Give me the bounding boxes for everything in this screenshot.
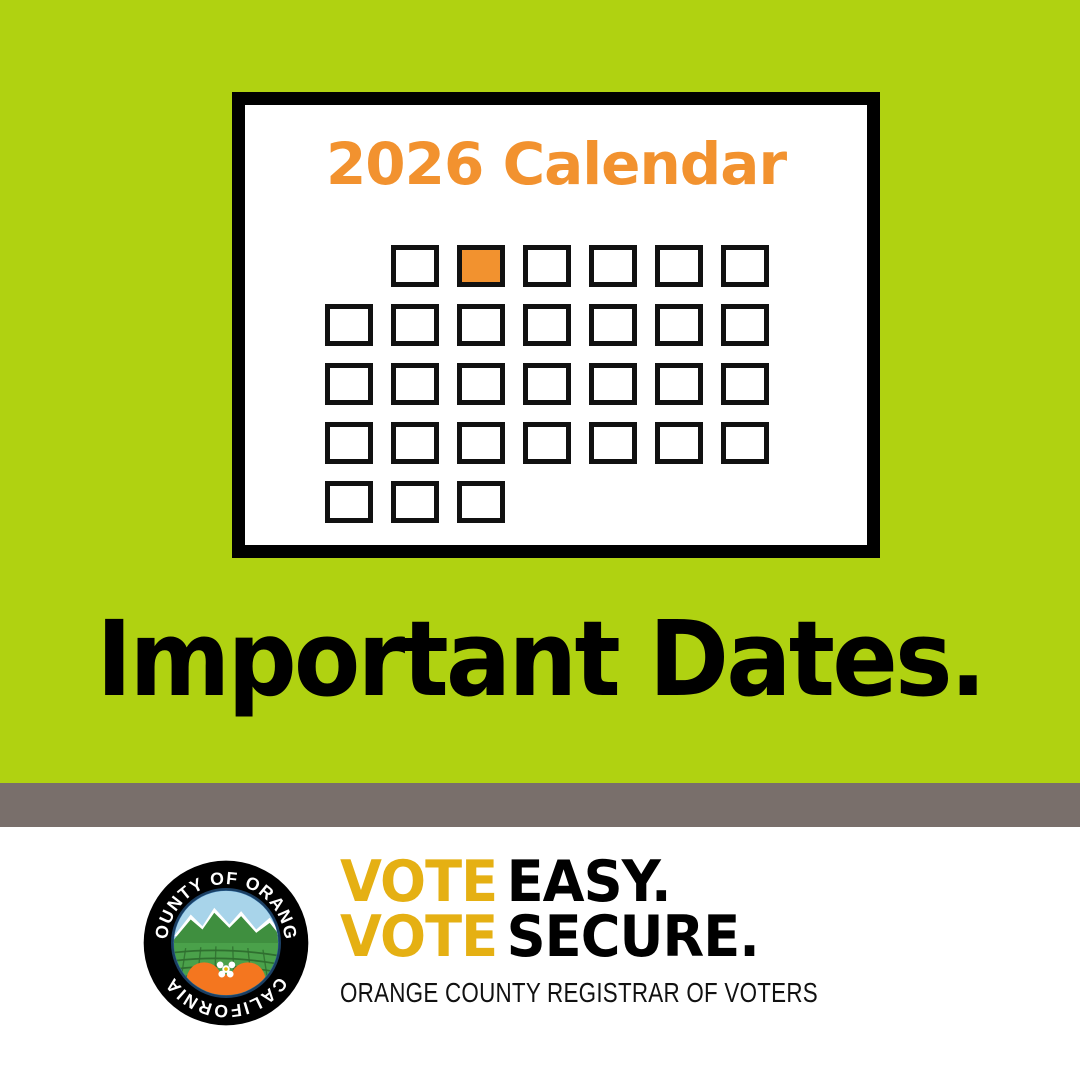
calendar-day-cell[interactable] — [589, 363, 637, 405]
county-seal-icon: COUNTY OF ORANGE CALIFORNIA — [142, 857, 310, 1029]
calendar-day-cell[interactable] — [391, 304, 439, 346]
registrar-subtitle: ORANGE COUNTY REGISTRAR OF VOTERS — [340, 977, 818, 1009]
vote-easy-line: VOTEEASY. — [340, 855, 671, 910]
calendar-week-row — [325, 422, 795, 464]
calendar-grid — [325, 245, 795, 540]
calendar-day-cell[interactable] — [721, 304, 769, 346]
poster-canvas: 2026 Calendar Important Dates. — [0, 0, 1080, 1080]
calendar-week-row — [325, 481, 795, 523]
calendar-day-cell-empty — [523, 481, 571, 523]
calendar-day-cell[interactable] — [457, 363, 505, 405]
calendar-day-cell[interactable] — [523, 422, 571, 464]
footer-lockup: COUNTY OF ORANGE CALIFORNIA VOTEEASY. VO… — [0, 855, 1080, 1029]
vote-word-2: VOTE — [340, 904, 497, 970]
calendar-card: 2026 Calendar — [232, 92, 880, 558]
calendar-day-cell[interactable] — [457, 422, 505, 464]
calendar-day-cell[interactable] — [523, 304, 571, 346]
calendar-day-cell-empty — [655, 481, 703, 523]
vote-lockup: VOTEEASY. VOTESECURE. ORANGE COUNTY REGI… — [340, 855, 937, 1009]
calendar-day-cell[interactable] — [721, 422, 769, 464]
calendar-day-cell[interactable] — [325, 363, 373, 405]
calendar-day-cell[interactable] — [391, 422, 439, 464]
calendar-day-cell[interactable] — [391, 363, 439, 405]
calendar-day-cell[interactable] — [391, 245, 439, 287]
calendar-day-cell[interactable] — [391, 481, 439, 523]
calendar-day-cell[interactable] — [721, 245, 769, 287]
calendar-day-cell[interactable] — [655, 422, 703, 464]
calendar-day-cell[interactable] — [589, 304, 637, 346]
calendar-title: 2026 Calendar — [245, 135, 867, 193]
calendar-day-cell[interactable] — [655, 363, 703, 405]
calendar-day-cell[interactable] — [721, 363, 769, 405]
calendar-week-row — [325, 304, 795, 346]
calendar-day-cell[interactable] — [523, 245, 571, 287]
calendar-day-cell[interactable] — [457, 481, 505, 523]
secure-word: SECURE. — [507, 904, 759, 970]
calendar-day-cell-empty — [721, 481, 769, 523]
calendar-day-cell-empty — [589, 481, 637, 523]
calendar-week-row — [325, 363, 795, 405]
calendar-day-cell[interactable] — [325, 481, 373, 523]
calendar-day-cell[interactable] — [655, 304, 703, 346]
calendar-day-cell[interactable] — [523, 363, 571, 405]
calendar-day-cell-empty — [325, 245, 373, 287]
calendar-day-cell[interactable] — [325, 422, 373, 464]
calendar-week-row — [325, 245, 795, 287]
calendar-day-cell[interactable] — [655, 245, 703, 287]
calendar-day-cell[interactable] — [457, 304, 505, 346]
calendar-day-cell[interactable] — [325, 304, 373, 346]
page-title: Important Dates. — [38, 607, 1042, 711]
calendar-day-cell[interactable] — [589, 245, 637, 287]
calendar-day-cell[interactable] — [589, 422, 637, 464]
calendar-day-cell-highlighted[interactable] — [457, 245, 505, 287]
gray-divider-band — [0, 783, 1080, 827]
vote-secure-line: VOTESECURE. — [340, 910, 759, 965]
